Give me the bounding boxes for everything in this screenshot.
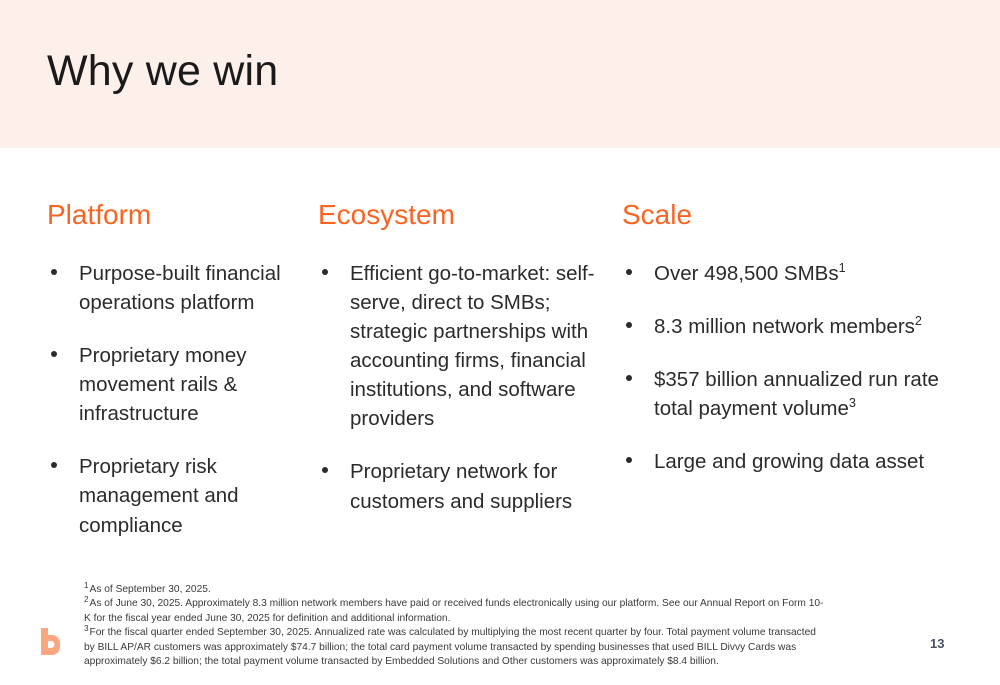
footnote-marker: 2 (84, 595, 89, 604)
list-item: Over 498,500 SMBs1 (622, 259, 940, 288)
list-item: Proprietary money movement rails & infra… (47, 341, 310, 428)
list-item: 8.3 million network members2 (622, 312, 940, 341)
bullet-dot-icon (626, 269, 632, 275)
slide: Why we win Platform Purpose-built financ… (0, 0, 1000, 685)
footnote-1: 1As of September 30, 2025. (84, 583, 824, 597)
bullet-dot-icon (626, 375, 632, 381)
list-item: Efficient go-to-market: self-serve, dire… (318, 259, 610, 434)
bullet-list-scale: Over 498,500 SMBs1 8.3 million network m… (622, 259, 940, 477)
bullet-dot-icon (51, 462, 57, 468)
footnote-ref-2: 2 (915, 313, 922, 328)
bullet-text: $357 billion annualized run rate total p… (654, 368, 939, 420)
footnote-marker: 3 (84, 624, 89, 633)
bullet-dot-icon (626, 457, 632, 463)
footnote-text: For the fiscal quarter ended September 3… (84, 627, 816, 667)
footnote-ref-1: 1 (839, 260, 846, 275)
bullet-dot-icon (322, 269, 328, 275)
column-scale: Scale Over 498,500 SMBs1 8.3 million net… (610, 200, 940, 476)
footnote-text: As of September 30, 2025. (90, 584, 211, 595)
bullet-text: Proprietary money movement rails & infra… (79, 344, 246, 425)
page-title: Why we win (47, 47, 278, 96)
bullet-dot-icon (626, 322, 632, 328)
bullet-text: Proprietary risk management and complian… (79, 455, 239, 536)
list-item: Purpose-built financial operations platf… (47, 259, 310, 317)
list-item: Proprietary risk management and complian… (47, 452, 310, 539)
bullet-text: Over 498,500 SMBs1 (654, 262, 846, 285)
title-banner: Why we win (0, 0, 1000, 148)
bullet-text: Large and growing data asset (654, 450, 924, 473)
column-heading-ecosystem: Ecosystem (318, 200, 610, 231)
bullet-text: Proprietary network for customers and su… (350, 460, 572, 512)
bullet-text: Efficient go-to-market: self-serve, dire… (350, 262, 595, 431)
bullet-dot-icon (51, 351, 57, 357)
bullet-text: Purpose-built financial operations platf… (79, 262, 281, 314)
footnote-ref-3: 3 (849, 395, 856, 410)
bill-logo-icon (38, 627, 62, 661)
list-item: Proprietary network for customers and su… (318, 457, 610, 515)
page-number: 13 (930, 636, 944, 651)
column-heading-scale: Scale (622, 200, 940, 231)
bullet-text: 8.3 million network members2 (654, 315, 922, 338)
list-item: $357 billion annualized run rate total p… (622, 365, 940, 423)
bullet-dot-icon (322, 467, 328, 473)
bullet-list-ecosystem: Efficient go-to-market: self-serve, dire… (318, 259, 610, 516)
footnotes: 1As of September 30, 2025. 2As of June 3… (84, 583, 824, 670)
bullet-list-platform: Purpose-built financial operations platf… (47, 259, 310, 540)
bullet-dot-icon (51, 269, 57, 275)
footnote-3: 3For the fiscal quarter ended September … (84, 626, 824, 669)
footnote-text: As of June 30, 2025. Approximately 8.3 m… (84, 598, 823, 623)
column-platform: Platform Purpose-built financial operati… (0, 200, 310, 540)
column-ecosystem: Ecosystem Efficient go-to-market: self-s… (310, 200, 610, 516)
list-item: Large and growing data asset (622, 447, 940, 476)
footnote-2: 2As of June 30, 2025. Approximately 8.3 … (84, 597, 824, 626)
content-columns: Platform Purpose-built financial operati… (0, 200, 1000, 540)
footnote-marker: 1 (84, 581, 89, 590)
column-heading-platform: Platform (47, 200, 310, 231)
